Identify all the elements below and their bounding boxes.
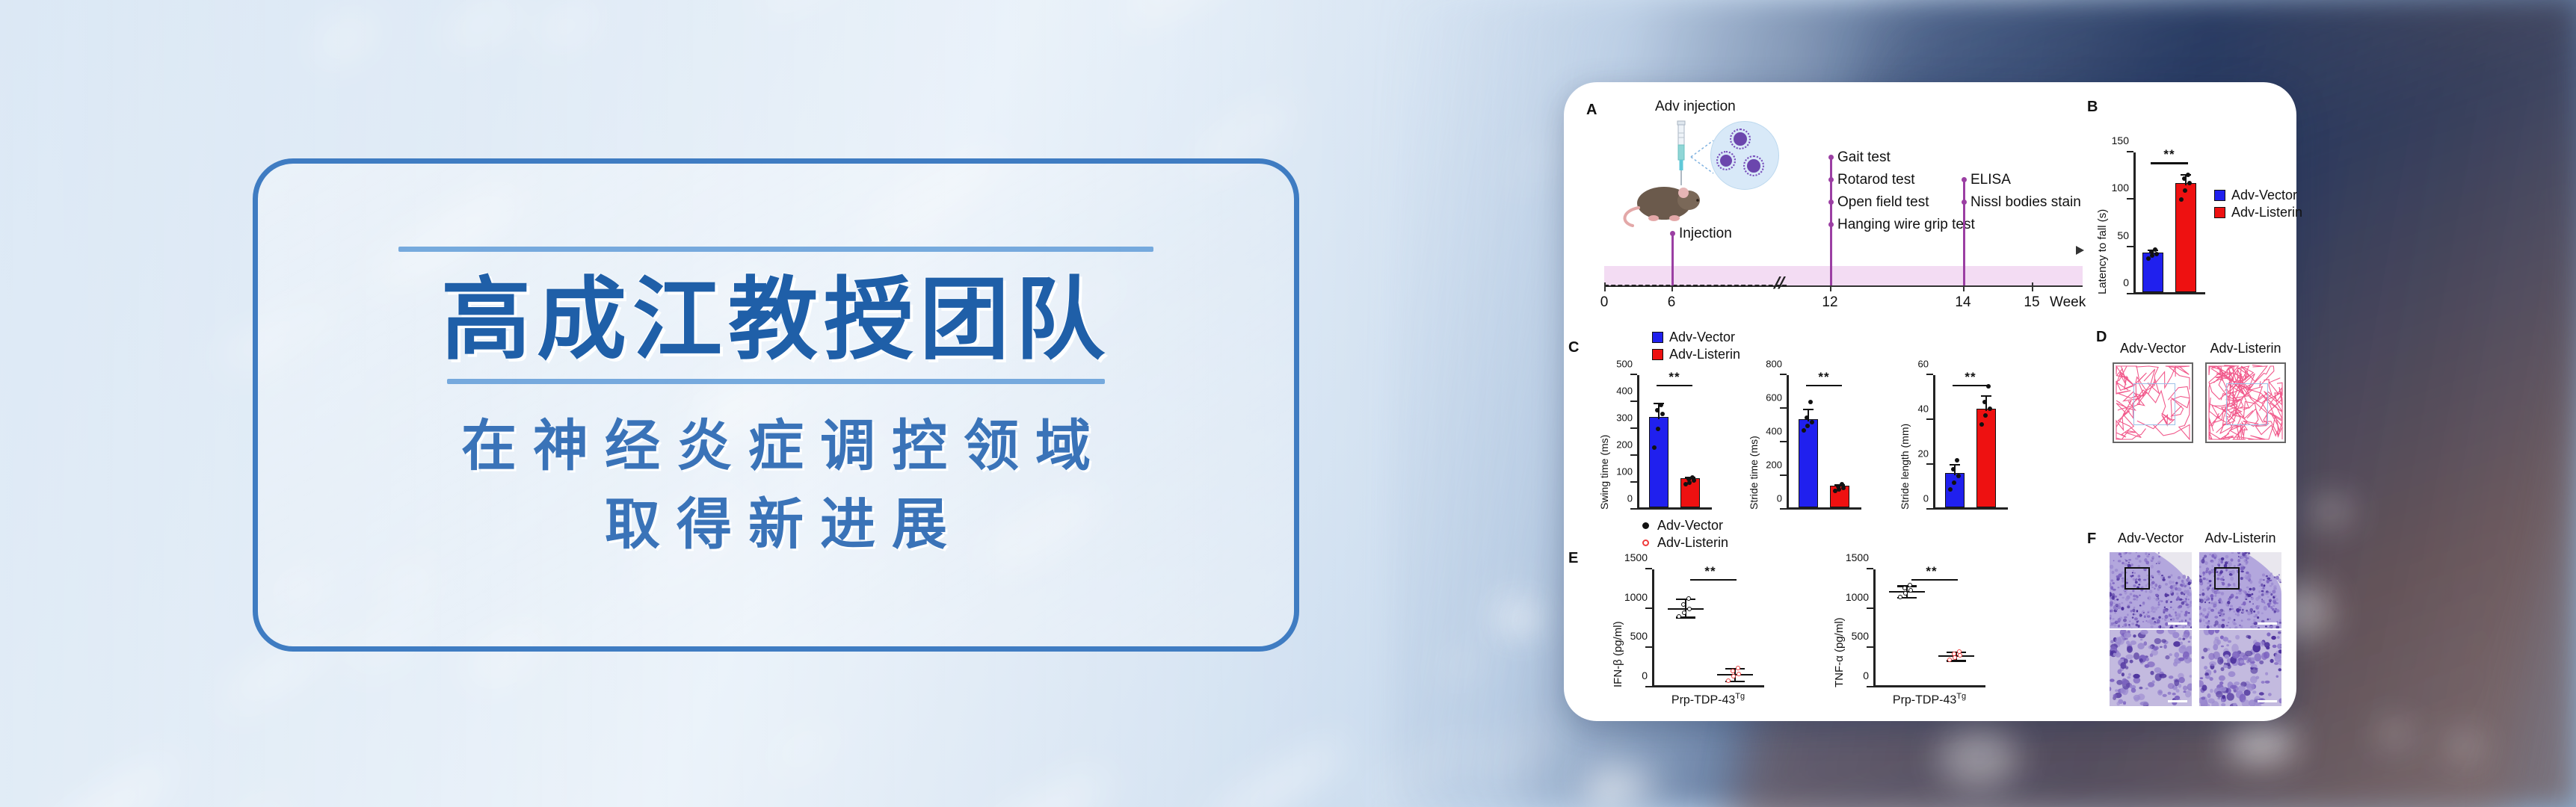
track-group-vector: Adv-Vector [2113, 341, 2193, 443]
panel-f-letter: F [2087, 531, 2096, 548]
event-stem-week14 [1963, 179, 1965, 285]
legend-item-adv-listerin: Adv-Listerin [1640, 534, 1728, 551]
legend-dot-black-icon [1642, 522, 1649, 529]
tick-0 [1604, 282, 1606, 291]
panel-f: F Adv-Vector Adv-Listerin [2087, 531, 2283, 717]
legend-item-adv-vector: Adv-Vector [2214, 187, 2302, 204]
open-field-track-adv-listerin [2205, 362, 2286, 443]
event-dot-elisa [1962, 177, 1967, 182]
legend-c: Adv-Vector Adv-Listerin [1652, 329, 1740, 362]
event-label-open-field-test: Open field test [1837, 194, 1929, 211]
legend-swatch-red-icon [1652, 349, 1663, 360]
legend-swatch-blue-icon [1652, 332, 1663, 343]
event-label-gait-test: Gait test [1837, 149, 1891, 166]
event-stem-week12 [1830, 157, 1832, 285]
tick-label-12: 12 [1822, 294, 1837, 311]
open-field-track-adv-vector [2113, 362, 2193, 443]
track-group-listerin: Adv-Listerin [2205, 341, 2286, 443]
event-stem-injection [1671, 235, 1674, 285]
event-dot-openfield [1828, 200, 1834, 205]
histology-group-listerin: Adv-Listerin [2199, 531, 2281, 706]
panel-b: B Latency to fall (s)050100150** Adv-Vec… [2087, 99, 2274, 323]
event-label-rotarod-test: Rotarod test [1837, 172, 1915, 188]
legend-label-adv-listerin: Adv-Listerin [2231, 204, 2302, 221]
panel-b-letter: B [2087, 99, 2098, 116]
panel-d-letter: D [2096, 329, 2107, 346]
timeline-band [1604, 266, 2083, 285]
scale-bar [2258, 622, 2277, 625]
chart-c-stride-length: Stride length (mm)0204060** [1933, 375, 2008, 510]
panel-a: A Adv injection [1583, 99, 2099, 323]
tick-label-15: 15 [2024, 294, 2039, 311]
tick-label-0: 0 [1600, 294, 1609, 311]
legend-item-adv-listerin: Adv-Listerin [2214, 204, 2302, 221]
timeline-arrow-icon [2076, 246, 2084, 255]
event-dot-gait [1828, 155, 1834, 160]
histology-title-adv-vector: Adv-Vector [2110, 531, 2192, 546]
panel-d: D Adv-Vector Adv-Listerin [2096, 329, 2283, 523]
nissl-stain-lowmag-adv-listerin [2199, 552, 2281, 628]
panel-a-letter: A [1586, 102, 1597, 119]
figure-card: A Adv injection [1564, 82, 2296, 721]
scale-bar [2168, 622, 2187, 625]
nissl-stain-highmag-adv-vector [2110, 630, 2192, 706]
histology-group-vector: Adv-Vector [2110, 531, 2192, 706]
event-dot-injection [1670, 231, 1675, 236]
legend-b: Adv-Vector Adv-Listerin [2214, 187, 2302, 220]
legend-label-adv-vector: Adv-Vector [1657, 517, 1723, 534]
subtitle-line-2: 取得新进展 [588, 485, 964, 563]
legend-e: Adv-Vector Adv-Listerin [1640, 517, 1728, 551]
event-label-elisa: ELISA [1970, 172, 2011, 188]
panel-e-letter: E [1568, 550, 1578, 567]
legend-label-adv-listerin: Adv-Listerin [1669, 346, 1740, 363]
legend-item-adv-listerin: Adv-Listerin [1652, 346, 1740, 363]
virion-icon [1720, 155, 1732, 167]
chart-e-tnf-alpha: TNF-α (pg/ml)050010001500**Prp-TDP-43Tg [1873, 569, 1985, 687]
legend-item-adv-vector: Adv-Vector [1640, 517, 1728, 534]
nissl-stain-lowmag-adv-vector [2110, 552, 2192, 628]
legend-dot-red-icon [1642, 539, 1649, 546]
center-zone-box [2133, 383, 2175, 425]
track-title-adv-vector: Adv-Vector [2113, 341, 2193, 356]
event-dot-nissl [1962, 200, 1967, 205]
tick-label-6: 6 [1668, 294, 1676, 311]
mouse-icon [1618, 173, 1707, 229]
virion-icon [1734, 132, 1747, 146]
chart-e-ifn-beta: IFN-β (pg/ml)050010001500**Prp-TDP-43Tg [1652, 569, 1764, 687]
title-rule-top [398, 247, 1153, 252]
subtitle-line-1: 在神经炎症调控领域 [445, 406, 1107, 485]
virus-particle-circle [1710, 121, 1779, 190]
panel-e: E Adv-Vector Adv-Listerin IFN-β (pg/ml)0… [1568, 531, 2084, 710]
legend-swatch-blue-icon [2214, 190, 2225, 201]
roi-box [2214, 567, 2240, 590]
virion-icon [1747, 159, 1760, 173]
legend-item-adv-vector: Adv-Vector [1652, 329, 1740, 346]
legend-label-adv-listerin: Adv-Listerin [1657, 534, 1728, 551]
title-rule-bottom [447, 379, 1105, 384]
roi-box [2124, 567, 2150, 590]
histology-title-adv-listerin: Adv-Listerin [2199, 531, 2281, 546]
event-label-hanging-wire-grip-test: Hanging wire grip test [1837, 217, 1975, 233]
chart-b-rotarod: Latency to fall (s)050100150** [2133, 152, 2205, 294]
nissl-stain-highmag-adv-listerin [2199, 630, 2281, 706]
chart-c-stride-time: Stride time (ms)0200400600800** [1787, 375, 1861, 510]
scale-bar [2168, 700, 2187, 702]
adv-injection-label: Adv injection [1655, 99, 1736, 115]
scale-bar [2258, 700, 2277, 702]
page-title: 高成江教授团队 [441, 268, 1111, 372]
timeline-dashed-segment [1604, 285, 1787, 287]
tick-15 [2032, 282, 2033, 291]
center-zone-box [2226, 383, 2268, 425]
event-dot-rotarod [1828, 177, 1834, 182]
track-title-adv-listerin: Adv-Listerin [2205, 341, 2286, 356]
panel-c-letter: C [1568, 339, 1579, 356]
chart-c-swing-time: Swing time (ms)0100200300400500** [1637, 375, 1712, 510]
title-card: 高成江教授团队 在神经炎症调控领域 取得新进展 [253, 158, 1299, 652]
event-dot-hangingwire [1828, 222, 1834, 227]
legend-label-adv-vector: Adv-Vector [1669, 329, 1735, 346]
event-label-nissl-bodies-stain: Nissl bodies stain [1970, 194, 2081, 211]
week-label: Week [2050, 294, 2086, 311]
panel-c: C Adv-Vector Adv-Listerin Swing time (ms… [1568, 329, 2084, 523]
event-label-injection: Injection [1679, 226, 1732, 242]
tick-label-14: 14 [1955, 294, 1970, 311]
legend-swatch-red-icon [2214, 207, 2225, 218]
legend-label-adv-vector: Adv-Vector [2231, 187, 2297, 204]
